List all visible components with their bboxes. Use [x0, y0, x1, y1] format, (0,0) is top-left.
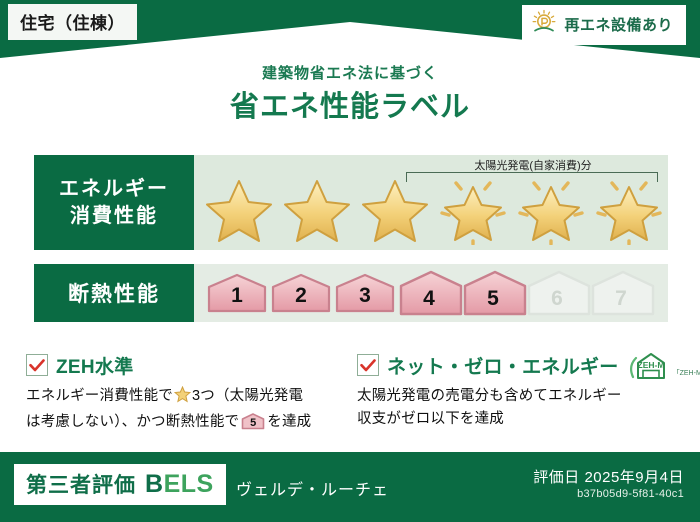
zeh-desc-stars: 3つ（太陽光発電: [192, 388, 303, 404]
star-icon-solar: [512, 173, 590, 245]
bels-wordmark: BELS: [145, 470, 214, 499]
net-zero-header: ネット・ゼロ・エネルギー ZEH-M 「ZEH-M」: [357, 352, 667, 378]
insulation-level-badge: 4: [398, 270, 460, 316]
insulation-level-number: 4: [423, 288, 435, 316]
energy-performance-row: エネルギー 消費性能 太陽光発電(自家消費)分: [34, 155, 668, 250]
building-type-label: 住宅（住棟）: [20, 14, 125, 33]
bels-letters-els: ELS: [164, 470, 214, 498]
insulation-level-badge-inactive: 7: [590, 270, 652, 316]
renewable-equipment-badge: 再エネ設備あり: [522, 5, 686, 45]
insulation-level-badge: 2: [270, 273, 332, 313]
net-zero-energy-section: ネット・ゼロ・エネルギー ZEH-M 「ZEH-M」 太陽光発電の売電分も含めて…: [357, 352, 667, 432]
third-party-label: 第三者評価: [26, 469, 136, 499]
insulation-level-number: 1: [231, 285, 243, 313]
zeh-desc-part3: を達成: [267, 414, 311, 430]
star-rating: [200, 173, 668, 245]
insulation-level-number: 5: [487, 288, 499, 316]
solar-note-label: 太陽光発電(自家消費)分: [408, 157, 658, 173]
net-zero-description: 太陽光発電の売電分も含めてエネルギー 収支がゼロ以下を達成: [357, 385, 667, 432]
energy-label-line1: エネルギー: [59, 176, 169, 203]
insulation-level-number: 2: [295, 285, 307, 313]
check-icon: [357, 354, 379, 376]
building-type-badge: 住宅（住棟）: [8, 4, 137, 40]
property-name: ヴェルデ・ルーチェ: [236, 476, 389, 500]
star-icon-solar: [590, 173, 668, 245]
label-subtitle: 建築物省エネ法に基づく: [0, 62, 700, 83]
zeh-description: エネルギー消費性能で 3つ（太陽光発電 は考慮しない）、かつ断熱性能で 5 を達…: [26, 385, 336, 435]
evaluation-date: 評価日 2025年9月4日: [533, 466, 684, 487]
evaluation-date-value: 2025年9月4日: [584, 469, 684, 486]
insulation-performance-row: 断熱性能 1 2: [34, 264, 668, 322]
energy-performance-label: エネルギー 消費性能: [34, 155, 194, 250]
zeh-title: ZEH水準: [56, 352, 134, 379]
bels-label-root: 住宅（住棟） 再エネ設備あり 建築物省エネ法に基づく 省エ: [0, 0, 700, 522]
star-icon-solar: [434, 173, 512, 245]
zeh-desc-part1: エネルギー消費性能で: [26, 388, 173, 404]
svg-text:ZEH-M: ZEH-M: [637, 360, 664, 370]
insulation-level-badge: 1: [206, 273, 268, 313]
insulation-level-badge-inactive: 6: [526, 270, 588, 316]
star-icon: [278, 173, 356, 245]
star-icon-inline: [174, 386, 191, 411]
renewable-badge-label: 再エネ設備あり: [564, 14, 673, 35]
evaluation-id: b37b05d9-5f81-40c1: [577, 488, 684, 500]
footer-bar: 第三者評価 BELS ヴェルデ・ルーチェ 評価日 2025年9月4日 b37b0…: [0, 452, 700, 522]
insulation-performance-label: 断熱性能: [34, 264, 194, 322]
insulation-rating-area: 1 2 3 4: [194, 264, 668, 322]
insulation-level-number: 3: [359, 285, 371, 313]
evaluation-date-label: 評価日: [533, 469, 580, 486]
zeh-m-logo: ZEH-M 「ZEH-M」: [629, 350, 700, 380]
insulation-badge-inline-number: 5: [241, 415, 265, 433]
insulation-label-text: 断熱性能: [68, 278, 160, 308]
net-zero-desc-line2: 収支がゼロ以下を達成: [357, 411, 504, 427]
energy-rating-area: 太陽光発電(自家消費)分: [194, 155, 668, 250]
solar-sun-icon: [531, 9, 557, 40]
zeh-header: ZEH水準: [26, 352, 336, 378]
insulation-badge-inline: 5: [241, 413, 265, 430]
net-zero-desc-line1: 太陽光発電の売電分も含めてエネルギー: [357, 388, 622, 404]
zeh-standard-section: ZEH水準 エネルギー消費性能で 3つ（太陽光発電 は考慮しない）、かつ断熱性能…: [26, 352, 336, 435]
energy-label-line2: 消費性能: [70, 203, 158, 230]
insulation-level-number: 6: [551, 288, 563, 316]
zeh-desc-part2: は考慮しない）、かつ断熱性能で: [26, 414, 239, 430]
zeh-m-logo-caption: 「ZEH-M」: [673, 368, 700, 380]
insulation-level-badge-achieved: 5: [462, 270, 524, 316]
insulation-level-number: 7: [615, 288, 627, 316]
star-icon: [200, 173, 278, 245]
bels-letter-b: B: [145, 470, 164, 498]
bels-certification-mark: 第三者評価 BELS: [14, 464, 226, 505]
net-zero-title: ネット・ゼロ・エネルギー: [387, 352, 619, 379]
insulation-level-badge: 3: [334, 273, 396, 313]
star-icon: [356, 173, 434, 245]
label-main-title: 省エネ性能ラベル: [0, 83, 700, 125]
check-icon: [26, 354, 48, 376]
